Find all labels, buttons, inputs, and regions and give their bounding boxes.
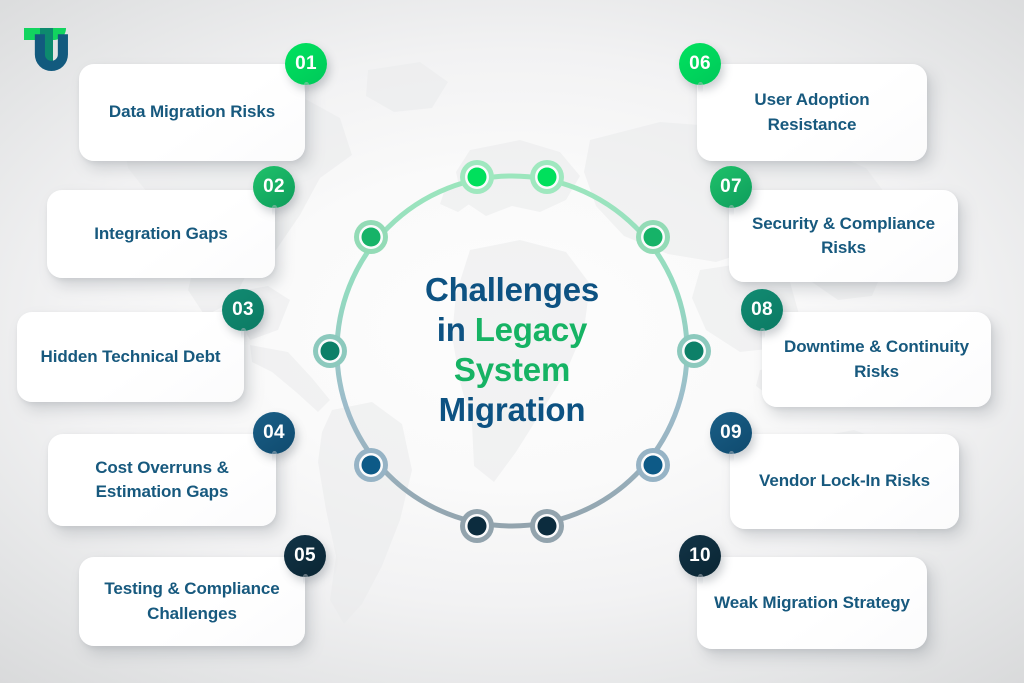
ring-node-dot-9	[468, 517, 487, 536]
title-in: in	[437, 311, 475, 348]
ring-node-dot-1	[468, 168, 487, 187]
ring-node-dot-5	[321, 342, 340, 361]
challenge-badge-06[interactable]: 06	[679, 43, 721, 85]
title-system: System	[367, 350, 657, 390]
title-legacy: Legacy	[475, 311, 588, 348]
ring-node-halo	[313, 334, 347, 368]
challenge-card-label-05: Testing & Compliance Challenges	[93, 577, 291, 625]
challenge-badge-09[interactable]: 09	[710, 412, 752, 454]
ring-node-halo	[354, 448, 388, 482]
challenge-badge-04[interactable]: 04	[253, 412, 295, 454]
challenge-card-08[interactable]: Downtime & Continuity Risks	[762, 312, 991, 407]
ring-node-dot-3	[362, 228, 381, 247]
ring-node-dot-10	[538, 517, 557, 536]
ring-node-dot-6	[685, 342, 704, 361]
challenge-badge-03[interactable]: 03	[222, 289, 264, 331]
title-line-1: Challenges	[367, 270, 657, 310]
ring-node-halo	[677, 334, 711, 368]
ring-node-gap	[535, 514, 559, 538]
challenge-card-label-02: Integration Gaps	[94, 222, 227, 246]
ring-node-gap	[641, 225, 665, 249]
title-migration: Migration	[367, 390, 657, 430]
challenge-card-05[interactable]: Testing & Compliance Challenges	[79, 557, 305, 646]
title-line-2: in Legacy	[367, 310, 657, 350]
ring-node-gap	[359, 453, 383, 477]
challenge-card-06[interactable]: User Adoption Resistance	[697, 64, 927, 161]
ring-node-dot-8	[644, 456, 663, 475]
challenge-card-10[interactable]: Weak Migration Strategy	[697, 557, 927, 649]
challenge-badge-10[interactable]: 10	[679, 535, 721, 577]
ring-node-gap	[318, 339, 342, 363]
ring-node-halo	[636, 448, 670, 482]
challenge-card-label-01: Data Migration Risks	[109, 100, 275, 124]
challenge-badge-01[interactable]: 01	[285, 43, 327, 85]
ring-node-dot-2	[538, 168, 557, 187]
challenge-card-label-03: Hidden Technical Debt	[41, 345, 221, 369]
ring-node-gap	[465, 165, 489, 189]
challenge-badge-07[interactable]: 07	[710, 166, 752, 208]
challenge-card-label-08: Downtime & Continuity Risks	[776, 335, 977, 383]
challenge-badge-05[interactable]: 05	[284, 535, 326, 577]
ring-node-halo	[530, 160, 564, 194]
ring-node-halo	[636, 220, 670, 254]
challenge-card-07[interactable]: Security & Compliance Risks	[729, 190, 958, 282]
ring-node-dot-4	[644, 228, 663, 247]
company-logo	[18, 14, 80, 76]
challenge-card-09[interactable]: Vendor Lock-In Risks	[730, 434, 959, 529]
challenge-card-label-10: Weak Migration Strategy	[714, 591, 910, 615]
challenge-card-label-06: User Adoption Resistance	[711, 88, 913, 136]
ring-node-gap	[359, 225, 383, 249]
ring-node-halo	[460, 160, 494, 194]
challenge-card-01[interactable]: Data Migration Risks	[79, 64, 305, 161]
challenge-card-02[interactable]: Integration Gaps	[47, 190, 275, 278]
ring-node-gap	[465, 514, 489, 538]
challenge-card-03[interactable]: Hidden Technical Debt	[17, 312, 244, 402]
ring-node-gap	[682, 339, 706, 363]
ring-node-halo	[354, 220, 388, 254]
ring-node-halo	[460, 509, 494, 543]
challenge-badge-02[interactable]: 02	[253, 166, 295, 208]
challenge-card-label-04: Cost Overruns & Estimation Gaps	[62, 456, 262, 504]
ring-node-halo	[530, 509, 564, 543]
challenge-card-label-09: Vendor Lock-In Risks	[759, 469, 930, 493]
page-title: Challenges in Legacy System Migration	[367, 270, 657, 430]
challenge-card-04[interactable]: Cost Overruns & Estimation Gaps	[48, 434, 276, 526]
ring-node-gap	[641, 453, 665, 477]
ring-node-gap	[535, 165, 559, 189]
ring-node-dot-7	[362, 456, 381, 475]
challenge-card-label-07: Security & Compliance Risks	[743, 212, 944, 260]
challenge-badge-08[interactable]: 08	[741, 289, 783, 331]
